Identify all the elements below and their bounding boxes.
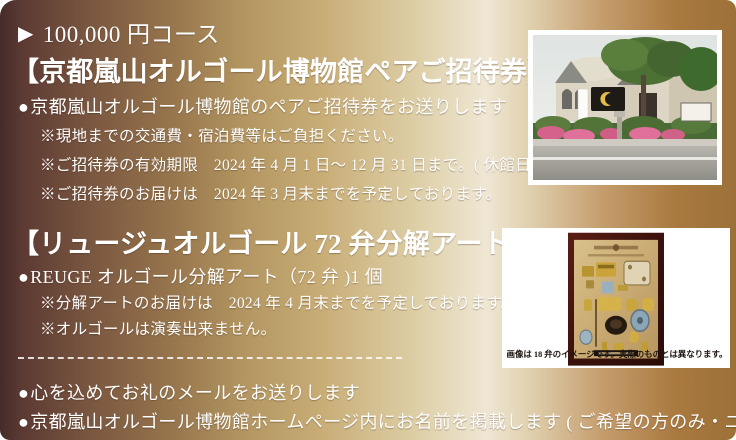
bullet-dot-icon: ● xyxy=(18,97,29,118)
art-photo-frame xyxy=(502,228,730,368)
note-ticket-3: ※ご招待券のお届けは 2024 年 3 月末までを予定しております。 xyxy=(40,182,501,204)
footer-item-1: ●心を込めてお礼のメールをお送りします xyxy=(18,379,360,405)
text-column: ▶100,000 円コース 【京都嵐山オルゴール博物館ペアご招待券】 ●京都嵐山… xyxy=(0,0,520,440)
note-art-1: ※分解アートのお届けは 2024 年 4 月末までを予定しております。 xyxy=(40,291,516,313)
footer-item-2: ●京都嵐山オルゴール博物館ホームページ内にお名前を掲載します ( ご希望の方のみ… xyxy=(18,408,736,434)
section-bullet-ticket-label: 京都嵐山オルゴール博物館のペアご招待券をお送りします xyxy=(30,97,507,117)
course-title-label: 100,000 円コース xyxy=(43,22,220,47)
section-heading-ticket: 【京都嵐山オルゴール博物館ペアご招待券】 xyxy=(12,50,554,89)
section-bullet-art-label: REUGE オルゴール分解アート（72 弁 )1 個 xyxy=(30,267,383,287)
museum-photo xyxy=(533,35,717,180)
bullet-dot-icon: ● xyxy=(18,383,29,404)
bullet-dot-icon: ● xyxy=(18,412,29,433)
note-ticket-1: ※現地までの交通費・宿泊費等はご負担ください。 xyxy=(40,124,404,146)
art-photo-image xyxy=(502,228,730,368)
note-ticket-2: ※ご招待券の有効期限 2024 年 4 月 1 日〜 12 月 31 日まで。(… xyxy=(40,153,572,175)
triangle-marker-icon: ▶ xyxy=(18,21,34,46)
campaign-card: ▶100,000 円コース 【京都嵐山オルゴール博物館ペアご招待券】 ●京都嵐山… xyxy=(0,0,736,440)
bullet-dot-icon: ● xyxy=(18,267,29,288)
museum-photo-frame xyxy=(528,30,722,185)
footer-item-1-label: 心を込めてお礼のメールをお送りします xyxy=(30,383,360,403)
section-bullet-ticket: ●京都嵐山オルゴール博物館のペアご招待券をお送りします xyxy=(18,93,507,119)
footer-item-2-label: 京都嵐山オルゴール博物館ホームページ内にお名前を掲載します ( ご希望の方のみ・… xyxy=(30,412,736,432)
dashed-divider xyxy=(18,357,402,359)
section-heading-art: 【リュージュオルゴール 72 弁分解アート】 xyxy=(12,222,537,261)
art-photo-caption: 画像は 18 弁のイメージです。実際のものとは異なります。 xyxy=(506,348,728,360)
course-title: ▶100,000 円コース xyxy=(18,15,220,49)
art-photo xyxy=(502,228,730,368)
museum-photo-image xyxy=(533,35,717,180)
section-bullet-art: ●REUGE オルゴール分解アート（72 弁 )1 個 xyxy=(18,263,383,289)
note-art-2: ※オルゴールは演奏出来ません。 xyxy=(40,317,276,339)
